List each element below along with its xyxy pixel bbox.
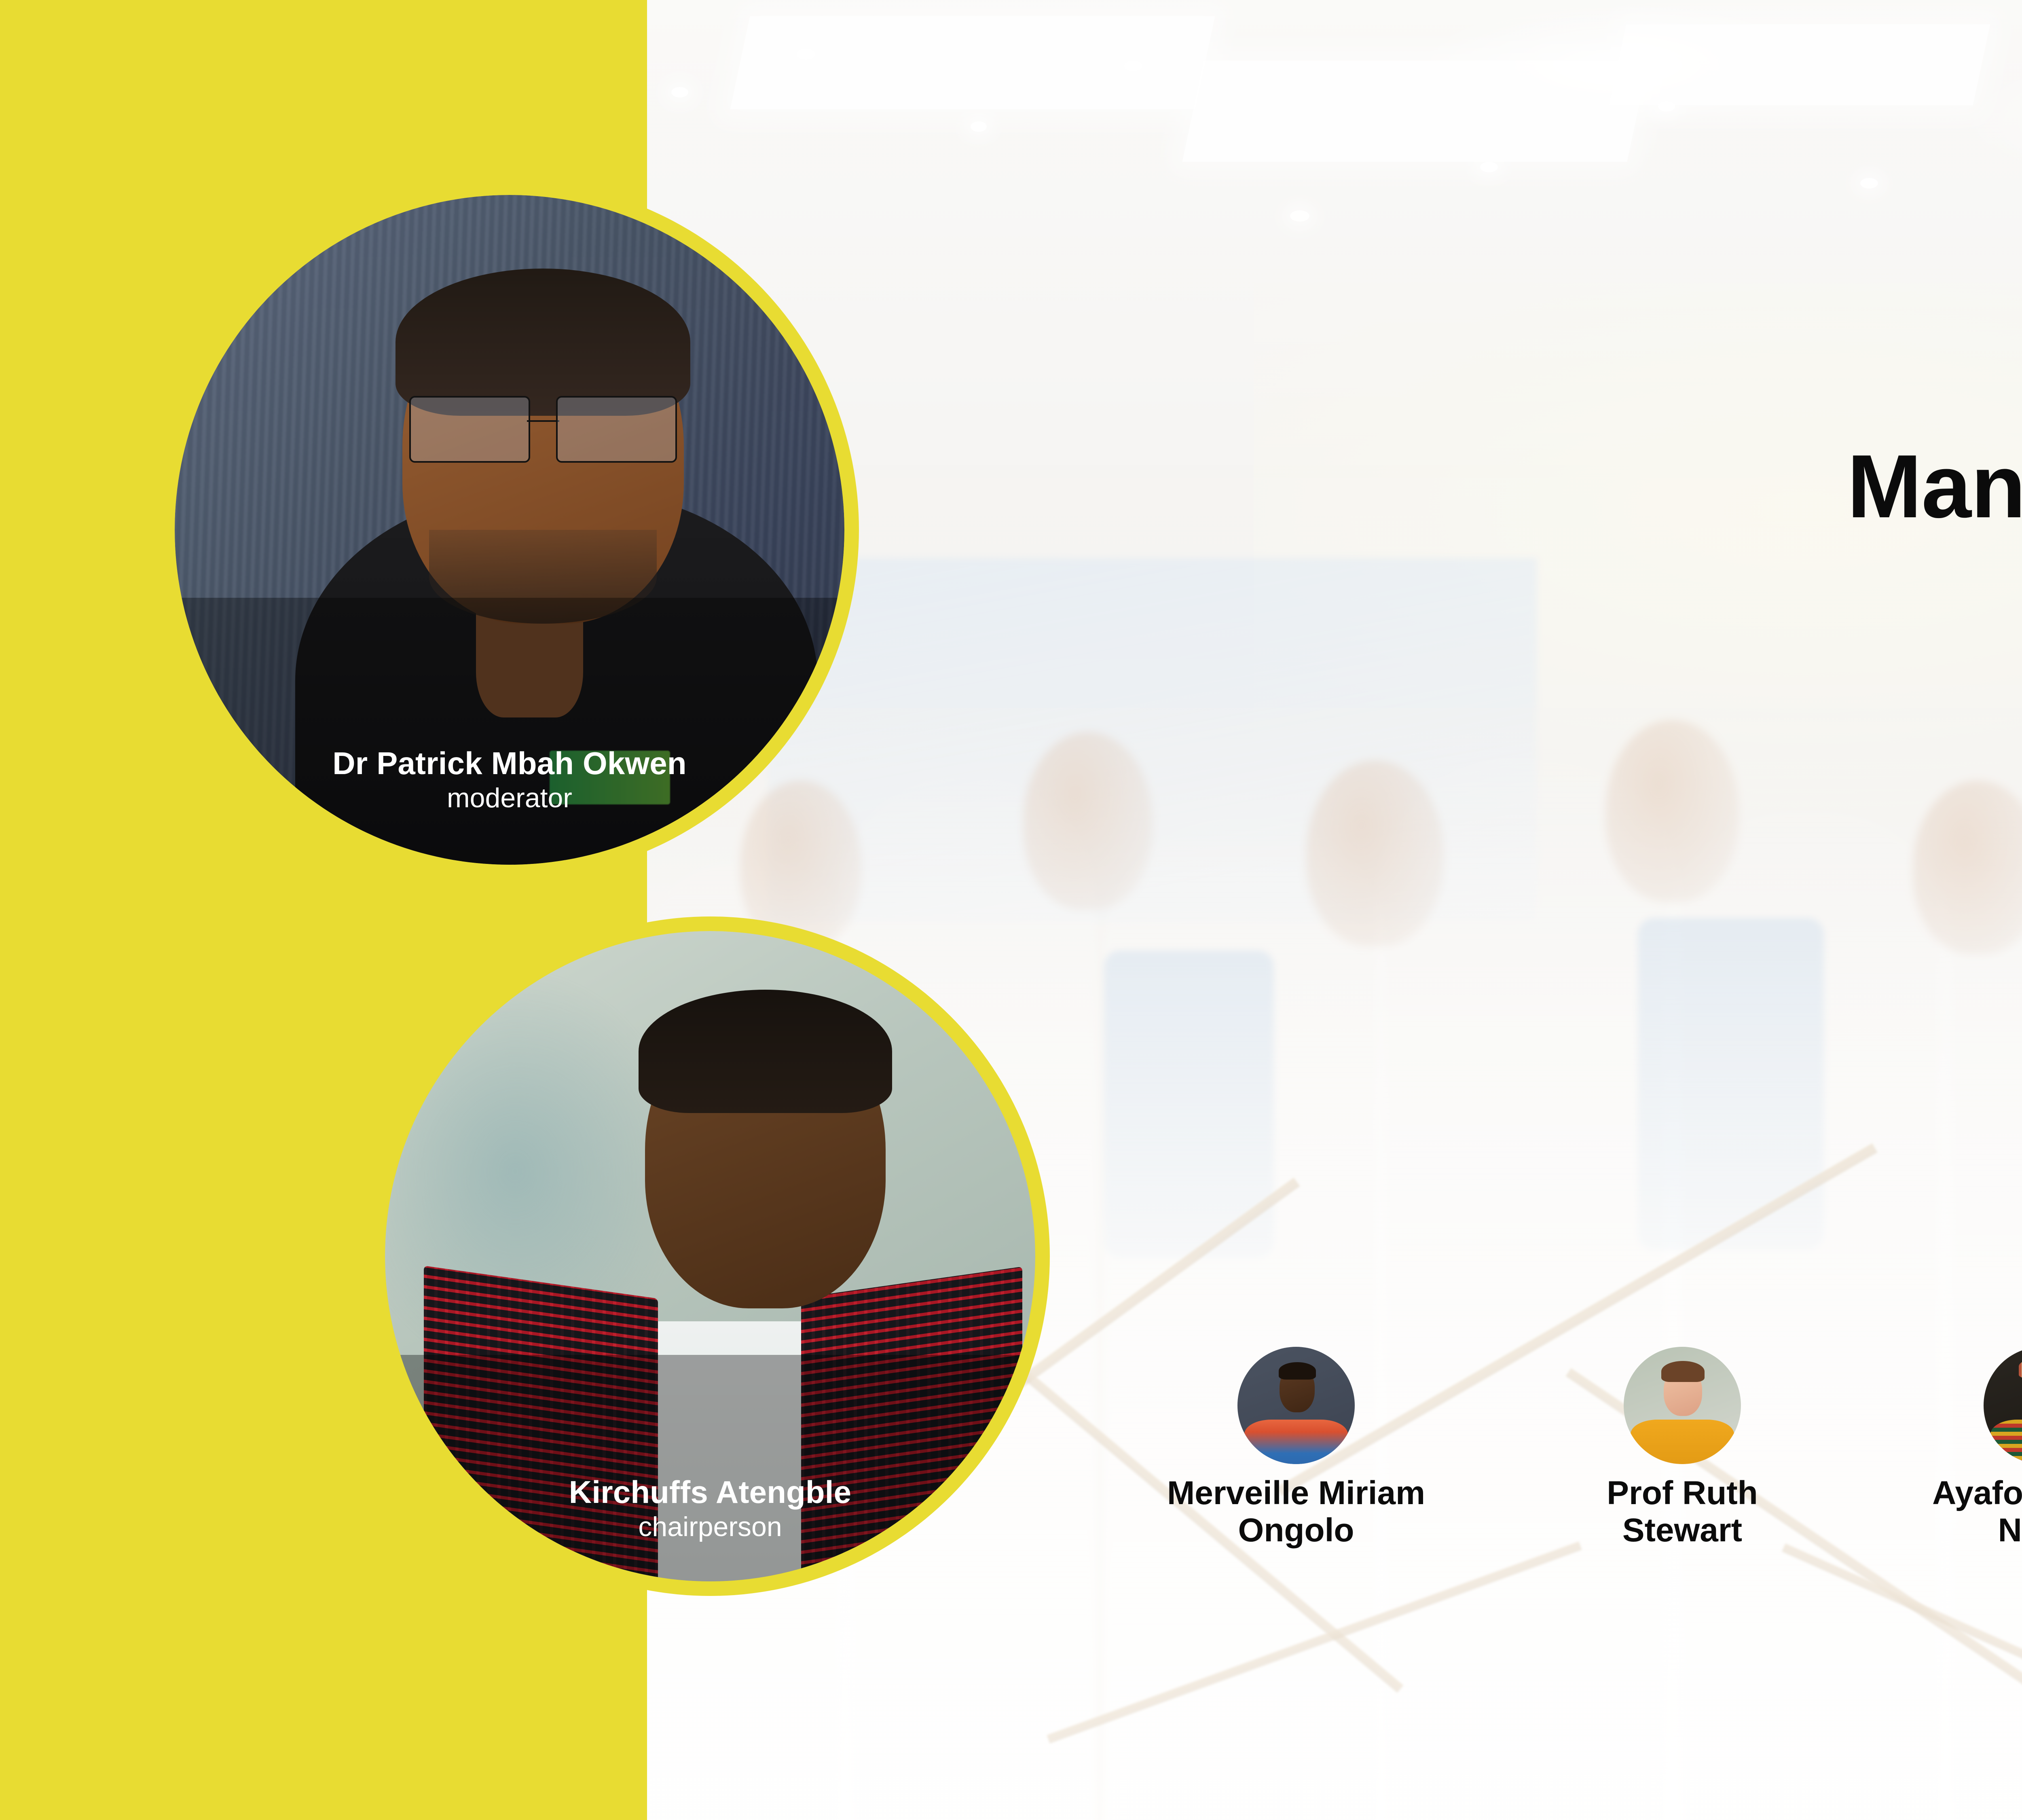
caption-band-chairperson: Kirchuffs Atengble chairperson: [385, 1355, 1035, 1581]
page-title: Manifesto Innovation Challenge Learning …: [809, 441, 2022, 624]
moderator-name: Dr Patrick Mbah Okwen: [175, 747, 844, 780]
title-line-2: Learning Webinar: [809, 532, 2022, 624]
portrait-chairperson: Kirchuffs Atengble chairperson: [385, 931, 1035, 1581]
chairperson-role: chairperson: [385, 1513, 1035, 1541]
moderator-role: moderator: [175, 784, 844, 813]
webinar-promo-poster: Dr Patrick Mbah Okwen moderator Kirchuff…: [0, 0, 2022, 1820]
speaker-merveille-miriam-ongolo: Merveille Miriam Ongolo: [1155, 1347, 1438, 1549]
title-line-1: Manifesto Innovation Challenge: [809, 441, 2022, 532]
speaker-name: Merveille Miriam Ongolo: [1155, 1475, 1438, 1549]
subtitle: Innovation Sparks | Multilingual Dialogu…: [930, 841, 2022, 936]
avatar-ayafor-leonel-ngwa: [1984, 1347, 2022, 1464]
chairperson-name: Kirchuffs Atengble: [385, 1476, 1035, 1509]
speaker-name: Prof Ruth Stewart: [1557, 1475, 1808, 1549]
caption-band-moderator: Dr Patrick Mbah Okwen moderator: [175, 598, 844, 865]
portrait-moderator: Dr Patrick Mbah Okwen moderator: [175, 195, 844, 865]
avatar-merveille-miriam-ongolo: [1237, 1347, 1355, 1464]
speaker-name: Ayafor Leonel Ngwa: [1917, 1475, 2022, 1549]
subtitle-line-1: Innovation Sparks | Multilingual Dialogu…: [930, 841, 2022, 889]
subtitle-line-2: Be inspired. Share your story. Submit by…: [930, 889, 2022, 936]
avatar-prof-ruth-stewart: [1624, 1347, 1741, 1464]
speaker-ayafor-leonel-ngwa: Ayafor Leonel Ngwa: [1917, 1347, 2022, 1549]
speaker-prof-ruth-stewart: Prof Ruth Stewart: [1557, 1347, 1808, 1549]
